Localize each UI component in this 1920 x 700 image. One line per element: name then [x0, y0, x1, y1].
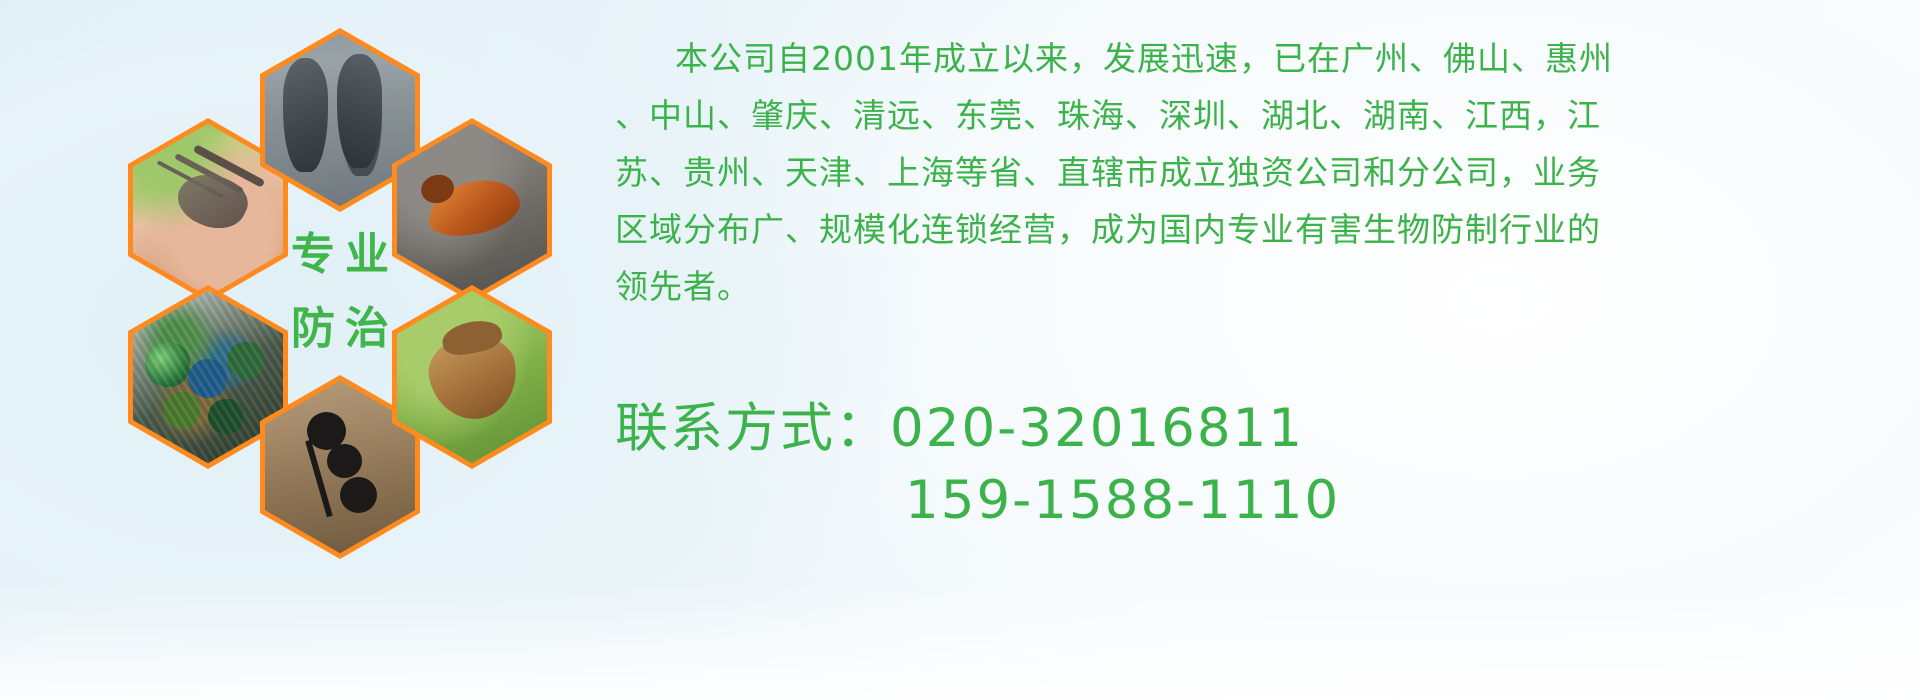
about-line-1: 本公司自2001年成立以来，发展迅速，已在广州、佛山、惠州	[615, 30, 1885, 87]
hex-center-label-line1: 专业	[281, 218, 399, 282]
contact-block: 联系方式：020-32016811 159-1588-1110	[615, 393, 1885, 537]
banner-content: 本公司自2001年成立以来，发展迅速，已在广州、佛山、惠州 、中山、肇庆、清远、…	[615, 30, 1885, 537]
about-line-4: 区域分布广、规模化连锁经营，成为国内专业有害生物防制行业的	[615, 201, 1885, 258]
about-line-2: 、中山、肇庆、清远、东莞、珠海、深圳、湖北、湖南、江西，江	[615, 87, 1885, 144]
contact-phone-secondary[interactable]: 159-1588-1110	[615, 465, 1885, 537]
contact-phone-primary[interactable]: 联系方式：020-32016811	[615, 393, 1885, 465]
hex-center-label-line2: 防治	[281, 292, 399, 356]
about-paragraph: 本公司自2001年成立以来，发展迅速，已在广州、佛山、惠州 、中山、肇庆、清远、…	[615, 30, 1885, 315]
hex-center-label: 专业 防治	[260, 195, 420, 379]
hexagon-photo-cluster: 专业 防治	[90, 10, 590, 570]
about-line-5: 领先者。	[615, 258, 1885, 315]
about-line-3: 苏、贵州、天津、上海等省、直辖市成立独资公司和分公司，业务	[615, 144, 1885, 201]
promo-banner: 专业 防治 本公司自2001年成立以来，发展迅速，已在广州、佛山、惠州 、中山、…	[0, 0, 1920, 700]
